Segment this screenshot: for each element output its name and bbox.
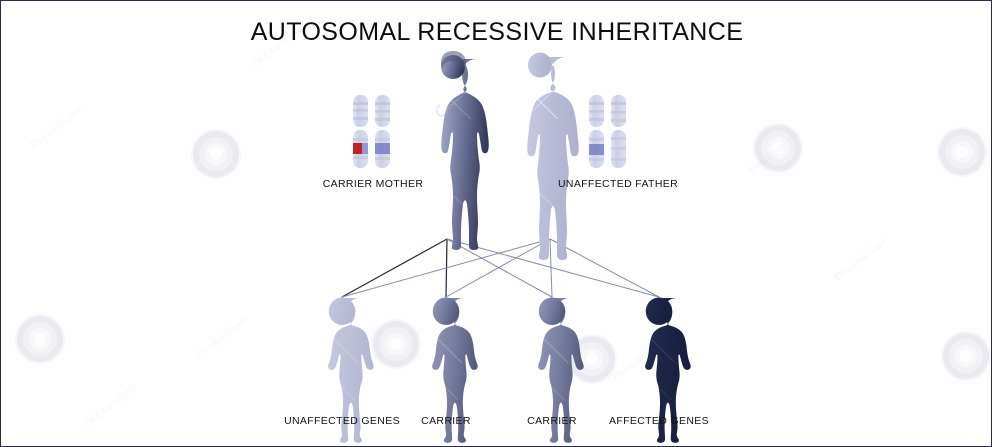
- normal-allele-band: [375, 143, 390, 154]
- caption-carrier-mother: CARRIER MOTHER: [253, 178, 493, 190]
- mother-figure: [437, 51, 489, 250]
- figures-artwork: [1, 1, 992, 447]
- father-chromosome-normal: [589, 95, 604, 168]
- illustration-canvas: DreamstimeDreamstimeDreamstimeDreamstime…: [0, 0, 992, 447]
- caption-child-affected-genes: AFFECTED GENES: [539, 415, 779, 427]
- mother-chromosome-mutated: [353, 95, 368, 168]
- father-normal-allele-band: [589, 144, 604, 155]
- father-chromosome-pair: [589, 95, 626, 168]
- caption-unaffected-father: UNAFFECTED FATHER: [498, 178, 738, 190]
- mutated-allele-band: [353, 143, 362, 154]
- father-chromosome-plain: [611, 95, 626, 168]
- mother-chromosome-pair: [353, 95, 390, 168]
- page-title: AUTOSOMAL RECESSIVE INHERITANCE: [1, 18, 992, 47]
- father-figure: [524, 53, 579, 261]
- mother-chromosome-normal: [375, 95, 390, 168]
